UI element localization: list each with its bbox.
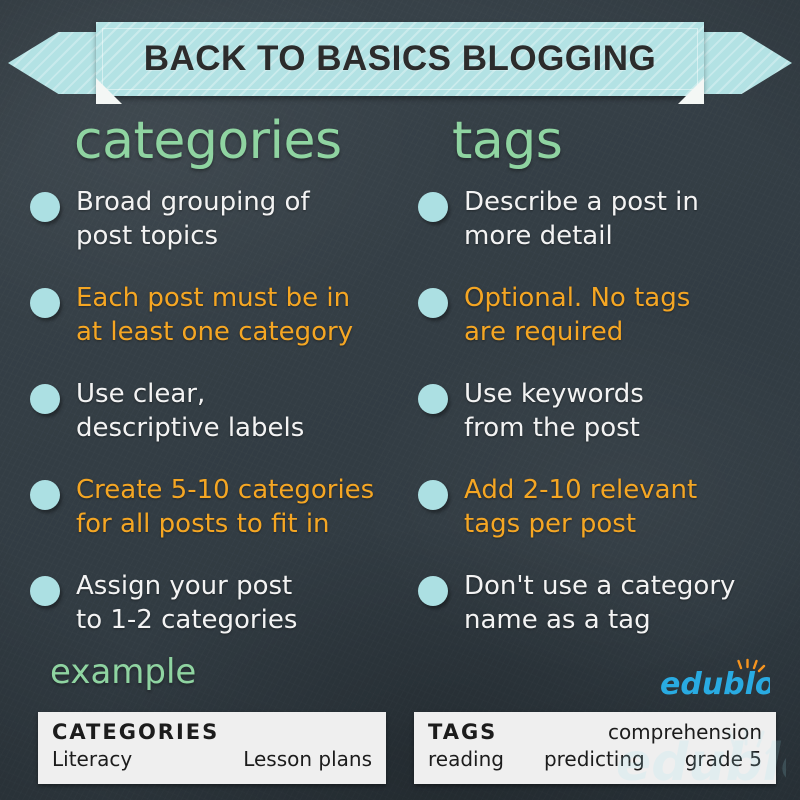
card-row-header: TAGS comprehension xyxy=(428,720,762,747)
bullet-dot-icon xyxy=(30,288,60,318)
example-card-categories: CATEGORIES Literacy Lesson plans xyxy=(38,712,386,784)
logo-wordmark: edublogs xyxy=(660,667,770,702)
card-value-grade-5: grade 5 xyxy=(685,747,762,771)
ribbon-banner-body: BACK TO BASICS BLOGGING xyxy=(96,22,704,96)
card-label-tags: TAGS xyxy=(428,720,497,744)
bullet-dot-icon xyxy=(418,480,448,510)
card-value-predicting: predicting xyxy=(544,747,645,771)
bullet-dot-icon xyxy=(30,384,60,414)
list-item-text: Assign your post to 1-2 categories xyxy=(76,569,297,638)
tags-bullet-list: Describe a post in more detail Optional.… xyxy=(418,185,778,665)
list-item-text: Add 2-10 relevant tags per post xyxy=(464,473,697,542)
list-item: Add 2-10 relevant tags per post xyxy=(418,473,778,549)
card-value-comprehension: comprehension xyxy=(608,720,762,744)
card-label-categories: CATEGORIES xyxy=(52,720,219,744)
list-item: Optional. No tags are required xyxy=(418,281,778,357)
bullet-dot-icon xyxy=(418,576,448,606)
list-item: Don't use a category name as a tag xyxy=(418,569,778,645)
example-card-tags: TAGS comprehension reading predicting gr… xyxy=(414,712,776,784)
list-item-text: Don't use a category name as a tag xyxy=(464,569,735,638)
list-item: Describe a post in more detail xyxy=(418,185,778,261)
list-item: Broad grouping of post topics xyxy=(30,185,390,261)
bullet-dot-icon xyxy=(30,192,60,222)
bullet-dot-icon xyxy=(30,576,60,606)
list-item-text: Describe a post in more detail xyxy=(464,185,699,254)
list-item: Each post must be in at least one catego… xyxy=(30,281,390,357)
column-heading-tags: tags xyxy=(452,115,562,167)
bullet-dot-icon xyxy=(30,480,60,510)
list-item: Use clear, descriptive labels xyxy=(30,377,390,453)
page-title: BACK TO BASICS BLOGGING xyxy=(96,22,704,96)
list-item: Create 5-10 categories for all posts to … xyxy=(30,473,390,549)
infographic-page: BACK TO BASICS BLOGGING categories tags … xyxy=(0,0,800,800)
categories-bullet-list: Broad grouping of post topics Each post … xyxy=(30,185,390,665)
card-value-literacy: Literacy xyxy=(52,747,132,771)
list-item-text: Use keywords from the post xyxy=(464,377,644,446)
list-item-text: Use clear, descriptive labels xyxy=(76,377,304,446)
list-item: Use keywords from the post xyxy=(418,377,778,453)
list-item-text: Each post must be in at least one catego… xyxy=(76,281,353,350)
list-item-text: Broad grouping of post topics xyxy=(76,185,310,254)
bullet-dot-icon xyxy=(418,384,448,414)
card-row-values: reading predicting grade 5 xyxy=(428,747,762,774)
column-heading-categories: categories xyxy=(74,115,342,167)
list-item-text: Optional. No tags are required xyxy=(464,281,690,350)
bullet-dot-icon xyxy=(418,192,448,222)
card-value-reading: reading xyxy=(428,747,504,771)
card-value-lesson-plans: Lesson plans xyxy=(243,747,372,771)
bullet-dot-icon xyxy=(418,288,448,318)
list-item: Assign your post to 1-2 categories xyxy=(30,569,390,645)
card-row-header: CATEGORIES xyxy=(52,720,372,747)
header-ribbon: BACK TO BASICS BLOGGING xyxy=(0,22,800,104)
example-heading: example xyxy=(50,655,196,689)
list-item-text: Create 5-10 categories for all posts to … xyxy=(76,473,374,542)
card-row-values: Literacy Lesson plans xyxy=(52,747,372,774)
edublogs-logo: edublogs xyxy=(658,658,770,704)
